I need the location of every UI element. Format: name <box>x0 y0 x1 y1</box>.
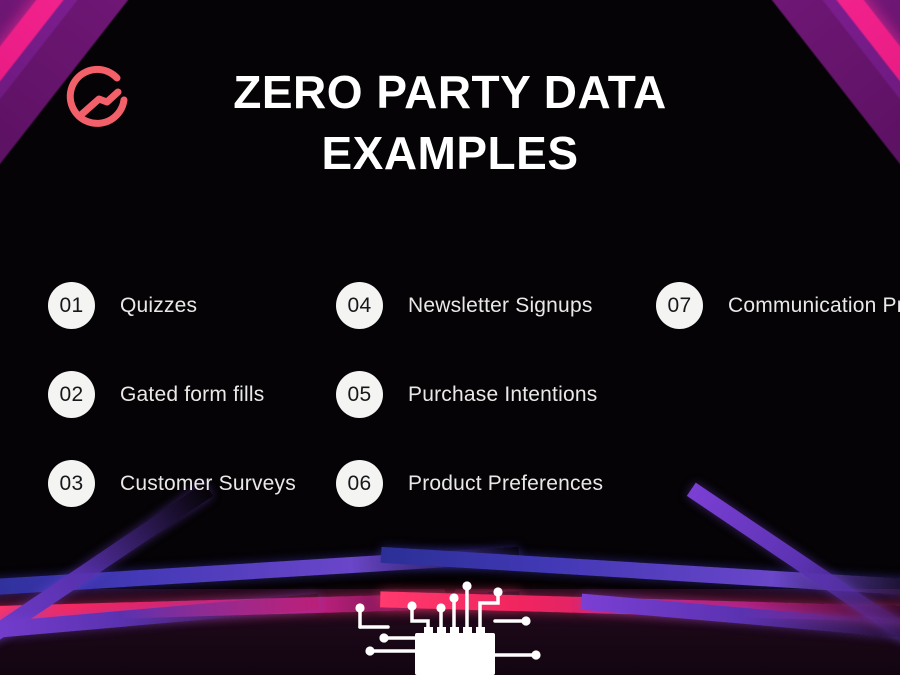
examples-list: 01 Quizzes 02 Gated form fills 03 Custom… <box>0 258 900 528</box>
item-number-badge: 05 <box>336 371 383 418</box>
item-number-badge: 06 <box>336 460 383 507</box>
title-line-2: EXAMPLES <box>150 123 750 184</box>
item-number-badge: 02 <box>48 371 95 418</box>
page-title: ZERO PARTY DATA EXAMPLES <box>150 62 750 184</box>
brand-circle-logo <box>55 58 139 142</box>
list-item[interactable]: 03 Customer Surveys <box>48 460 296 507</box>
list-item[interactable]: 05 Purchase Intentions <box>336 371 597 418</box>
item-label: Newsletter Signups <box>408 294 593 318</box>
item-number-badge: 07 <box>656 282 703 329</box>
item-label: Customer Surveys <box>120 472 296 496</box>
item-label: Communication Preferences <box>728 294 900 318</box>
item-number-badge: 01 <box>48 282 95 329</box>
item-label: Product Preferences <box>408 472 603 496</box>
item-number-badge: 04 <box>336 282 383 329</box>
item-label: Quizzes <box>120 294 197 318</box>
item-number-badge: 03 <box>48 460 95 507</box>
item-label: Purchase Intentions <box>408 383 597 407</box>
list-item[interactable]: 01 Quizzes <box>48 282 197 329</box>
list-item[interactable]: 07 Communication Preferences <box>656 282 900 329</box>
list-item[interactable]: 06 Product Preferences <box>336 460 603 507</box>
item-label: Gated form fills <box>120 383 264 407</box>
list-item[interactable]: 02 Gated form fills <box>48 371 264 418</box>
slide-canvas: ZERO PARTY DATA EXAMPLES 01 Quizzes 02 G… <box>0 0 900 675</box>
circuit-chip-icon <box>340 563 570 675</box>
list-item[interactable]: 04 Newsletter Signups <box>336 282 593 329</box>
title-line-1: ZERO PARTY DATA <box>150 62 750 123</box>
